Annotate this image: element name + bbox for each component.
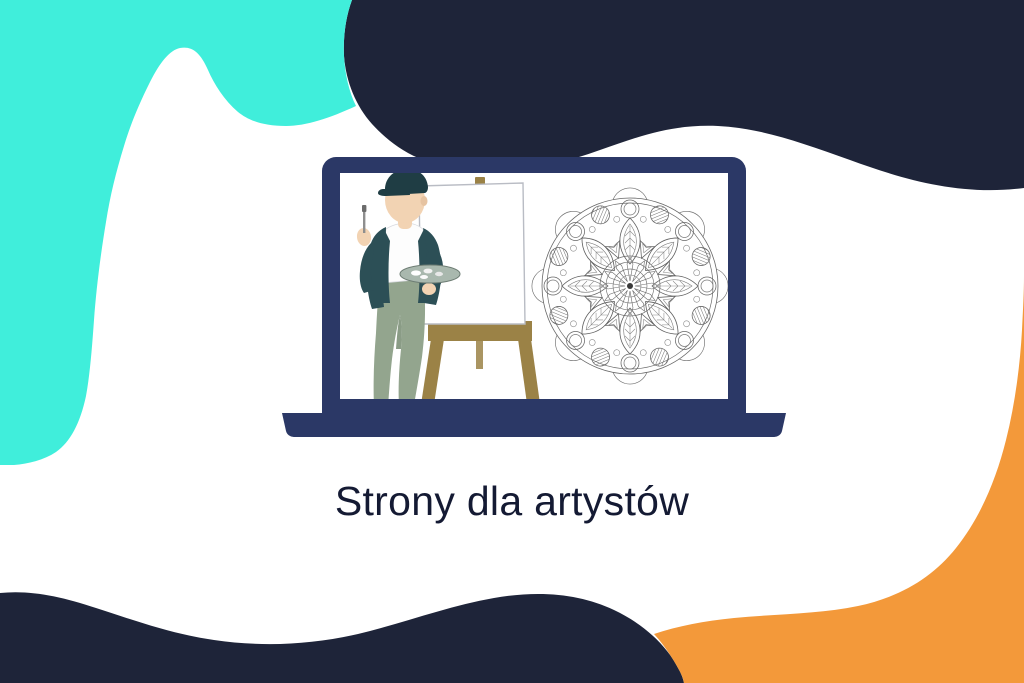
laptop-illustration bbox=[278, 143, 790, 448]
palette bbox=[400, 265, 460, 283]
page-title: Strony dla artystów bbox=[0, 477, 1024, 525]
poster-canvas: Strony dla artystów bbox=[0, 0, 1024, 683]
laptop-base bbox=[282, 413, 786, 437]
